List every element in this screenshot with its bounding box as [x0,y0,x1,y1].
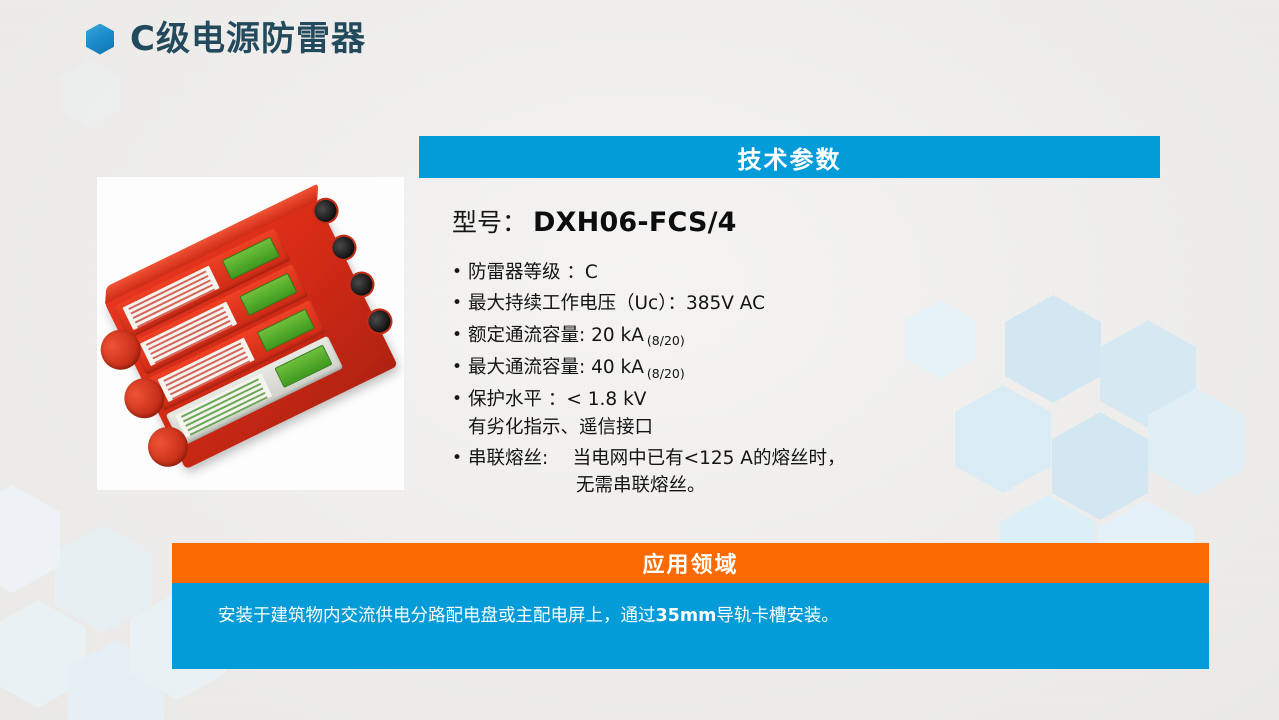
spec-text: 保护水平 ：< 1.8 kV 有劣化指示、遥信接口 [468,387,1012,441]
spec-text-line2: 无需串联熔丝。 [468,473,1012,499]
application-text: 安装于建筑物内交流供电分路配电盘或主配电屏上，通过35mm导轨卡槽安装。 [218,605,839,628]
spec-item: • 保护水平 ：< 1.8 kV 有劣化指示、遥信接口 [452,387,1012,441]
hexagon-icon [86,24,114,55]
spec-item: • 额定通流容量: 20 kA(8/20) [452,323,1012,350]
application-panel: 应用领域 安装于建筑物内交流供电分路配电盘或主配电屏上，通过35mm导轨卡槽安装… [172,543,1209,669]
spec-item: • 串联熔丝: 当电网中已有<125 A的熔丝时， 无需串联熔丝。 [452,446,1012,500]
spd-device-illustration [104,198,398,469]
page-header: C级电源防雷器 [86,22,366,56]
bullet-icon: • [452,446,468,470]
tech-params-header-bar: 技术参数 [419,136,1160,178]
spec-text-main: 最大持续工作电压（Uc）：385V AC [468,293,765,314]
spec-text-main: 最大通流容量: 40 kA [468,357,644,378]
spec-text-main: 串联熔丝: 当电网中已有<125 A的熔丝时， [468,448,845,469]
application-text-strong: 35mm [656,606,717,626]
application-body: 安装于建筑物内交流供电分路配电盘或主配电屏上，通过35mm导轨卡槽安装。 [172,583,1209,669]
model-label: 型号： [452,203,527,239]
spec-text-main: 保护水平 ：< 1.8 kV [468,389,646,410]
spec-text: 最大持续工作电压（Uc）：385V AC [468,291,1012,317]
bullet-icon: • [452,291,468,315]
tech-params-title: 技术参数 [738,140,842,175]
spec-text: 串联熔丝: 当电网中已有<125 A的熔丝时， 无需串联熔丝。 [468,446,1012,500]
spec-text: 最大通流容量: 40 kA(8/20) [468,355,1012,382]
spec-text-main: 防雷器等级 ：C [468,262,598,283]
product-image-stage [97,177,404,490]
application-title: 应用领域 [642,547,738,579]
spec-text-subscript: (8/20) [647,366,685,381]
application-text-suffix: 导轨卡槽安装。 [716,606,839,626]
spec-text-line2: 有劣化指示、遥信接口 [468,415,1012,441]
spec-item: • 最大持续工作电压（Uc）：385V AC [452,291,1012,317]
application-header-bar: 应用领域 [172,543,1209,583]
bullet-icon: • [452,387,468,411]
spec-item: • 最大通流容量: 40 kA(8/20) [452,355,1012,382]
spec-text-main: 额定通流容量: 20 kA [468,325,644,346]
model-line: 型号： DXH06-FCS/4 [452,203,737,239]
bullet-icon: • [452,260,468,284]
tech-spec-list: • 防雷器等级 ：C • 最大持续工作电压（Uc）：385V AC • 额定通流… [452,260,1012,504]
spec-item: • 防雷器等级 ：C [452,260,1012,286]
product-image [97,177,404,490]
application-text-prefix: 安装于建筑物内交流供电分路配电盘或主配电屏上，通过 [218,606,656,626]
bullet-icon: • [452,323,468,347]
model-value: DXH06-FCS/4 [533,207,737,238]
spec-text: 额定通流容量: 20 kA(8/20) [468,323,1012,350]
bullet-icon: • [452,355,468,379]
page-title: C级电源防雷器 [130,22,366,56]
spec-text-subscript: (8/20) [647,333,685,348]
spec-text: 防雷器等级 ：C [468,260,1012,286]
